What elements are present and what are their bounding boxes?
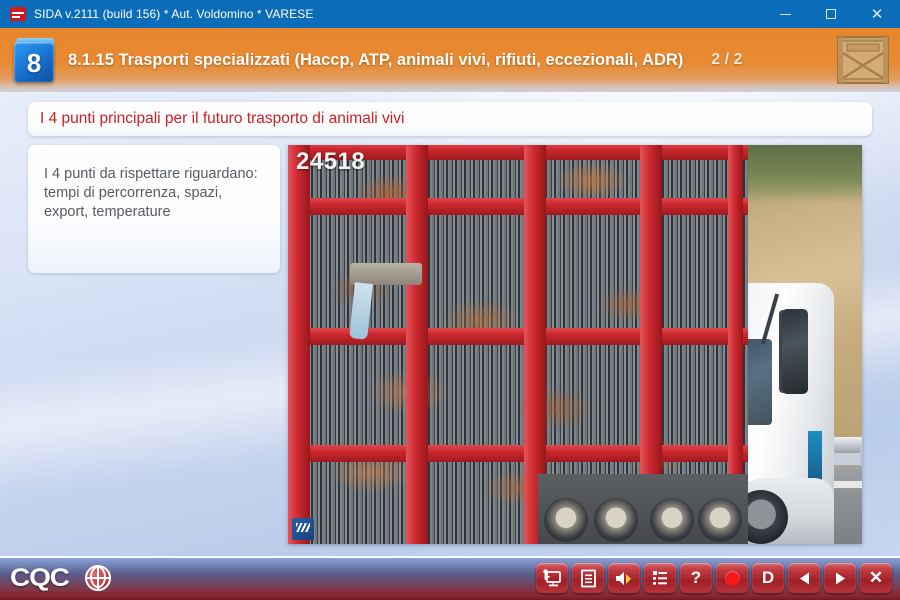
image-wheel-3	[650, 498, 694, 542]
image-rail-1	[288, 198, 748, 215]
lesson-image: 24518	[288, 145, 862, 544]
cqc-logo: CQC	[10, 566, 69, 591]
lesson-header: 8 8.1.15 Trasporti specializzati (Haccp,…	[0, 28, 900, 92]
subtitle-text: I 4 punti principali per il futuro trasp…	[40, 110, 404, 128]
chapter-number-label: 8	[27, 50, 41, 76]
image-side-mirror	[782, 309, 808, 394]
globe-icon[interactable]	[85, 565, 111, 591]
dictionary-button[interactable]: D	[752, 563, 784, 593]
image-livestock-body	[288, 145, 748, 544]
image-cab-blue-trim	[808, 431, 822, 483]
title-bar: SIDA v.2111 (build 156) * Aut. Voldomino…	[0, 0, 900, 28]
close-button[interactable]: ✕	[854, 0, 900, 28]
page-title: 8.1.15 Trasporti specializzati (Haccp, A…	[68, 51, 683, 70]
image-post-1	[406, 145, 428, 544]
triangle-right-icon	[833, 571, 848, 586]
record-button[interactable]	[716, 563, 748, 593]
truck-icon	[10, 7, 26, 21]
window-title: SIDA v.2111 (build 156) * Aut. Voldomino…	[34, 7, 314, 21]
list-button[interactable]	[644, 563, 676, 593]
wooden-crate-icon	[834, 33, 892, 87]
page-indicator: 2 / 2	[711, 51, 742, 69]
body-text-panel: I 4 punti da rispettare riguardano: temp…	[28, 145, 280, 273]
triangle-left-icon	[797, 571, 812, 586]
body-text: I 4 punti da rispettare riguardano: temp…	[44, 165, 264, 222]
speaker-icon	[614, 569, 634, 588]
window-controls: ✕	[762, 0, 900, 28]
sida-logo-badge	[292, 518, 314, 540]
cube-front-face: 8	[14, 42, 54, 82]
record-icon	[725, 571, 740, 586]
subtitle-panel: I 4 punti principali per il futuro trasp…	[28, 102, 872, 136]
image-strap	[350, 263, 422, 285]
exit-button[interactable]: ✕	[860, 563, 892, 593]
minimize-icon	[780, 14, 791, 15]
image-trailer-axles	[538, 474, 748, 544]
document-button[interactable]	[572, 563, 604, 593]
question-icon: ?	[691, 568, 701, 588]
close-icon: ✕	[871, 7, 884, 22]
toolbar-buttons: ? D ✕	[536, 563, 892, 593]
application-window: SIDA v.2111 (build 156) * Aut. Voldomino…	[0, 0, 900, 600]
globe-ring	[90, 566, 106, 588]
next-button[interactable]	[824, 563, 856, 593]
maximize-button[interactable]	[808, 0, 854, 28]
maximize-icon	[826, 9, 836, 19]
previous-button[interactable]	[788, 563, 820, 593]
letter-d-icon: D	[762, 568, 774, 588]
chapter-number-icon: 8	[12, 38, 56, 82]
audio-button[interactable]	[608, 563, 640, 593]
help-button[interactable]: ?	[680, 563, 712, 593]
image-wheel-2	[594, 498, 638, 542]
minimize-button[interactable]	[762, 0, 808, 28]
image-wheel-1	[544, 498, 588, 542]
bottom-toolbar: CQC	[0, 556, 900, 600]
presentation-button[interactable]	[536, 563, 568, 593]
monitor-icon	[542, 569, 562, 587]
close-x-icon: ✕	[869, 568, 883, 588]
image-wheel-4	[698, 498, 742, 542]
image-post-0	[288, 145, 310, 544]
image-watermark: 24518	[296, 148, 365, 176]
list-icon	[651, 569, 669, 587]
image-rail-3	[288, 445, 748, 462]
document-icon	[580, 569, 597, 588]
